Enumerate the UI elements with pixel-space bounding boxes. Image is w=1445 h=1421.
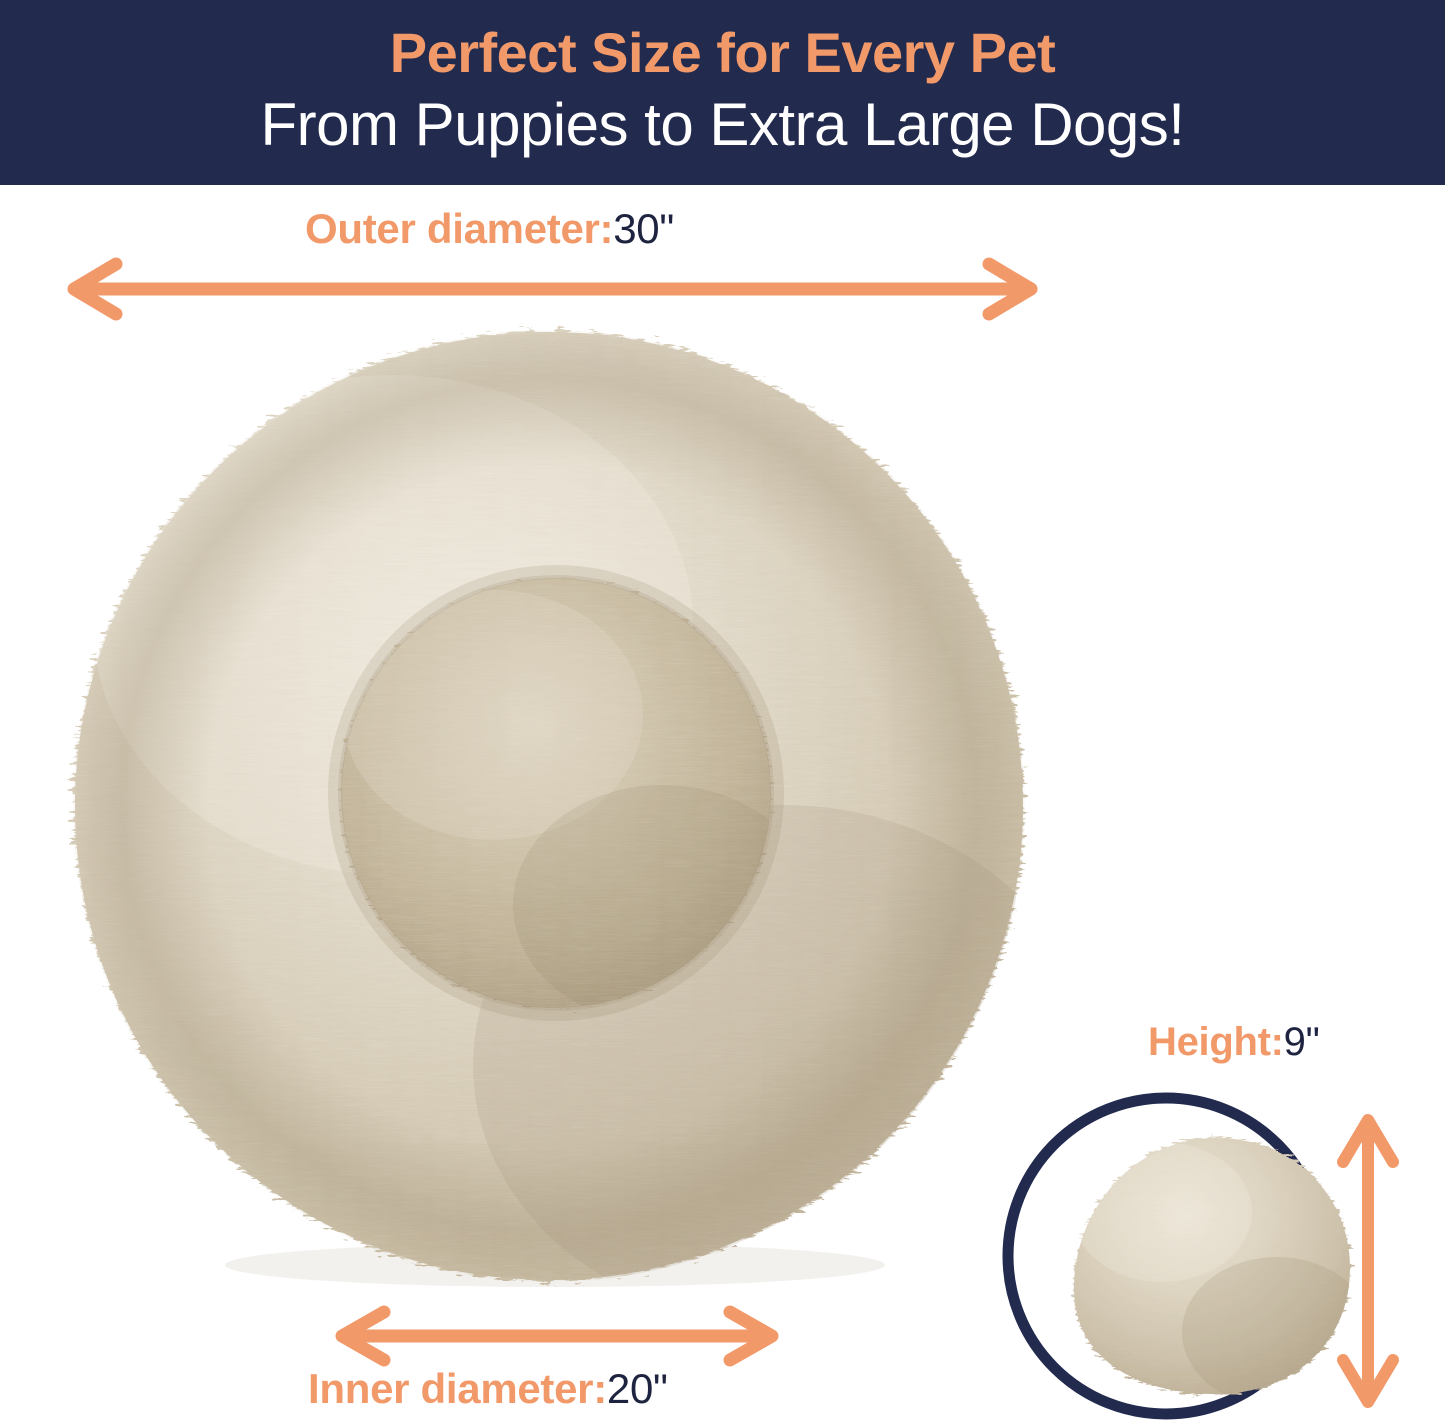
page-subtitle: From Puppies to Extra Large Dogs! <box>261 90 1185 159</box>
header-banner: Perfect Size for Every Pet From Puppies … <box>0 0 1445 185</box>
inner-diameter-value: 20" <box>607 1365 668 1412</box>
outer-diameter-label: Outer diameter:30" <box>305 208 674 250</box>
height-label: Height:9" <box>1148 1022 1320 1062</box>
height-name: Height: <box>1148 1020 1284 1064</box>
inner-diameter-name: Inner diameter: <box>308 1365 607 1412</box>
page-title: Perfect Size for Every Pet <box>390 22 1056 84</box>
inner-diameter-arrow <box>328 1306 786 1366</box>
product-image-side-view-circle <box>1002 1092 1330 1420</box>
product-image-top-view <box>63 325 1035 1287</box>
outer-diameter-name: Outer diameter: <box>305 205 613 252</box>
inner-diameter-label: Inner diameter:20" <box>308 1368 668 1410</box>
outer-diameter-value: 30" <box>613 205 674 252</box>
outer-diameter-arrow <box>60 258 1045 320</box>
infographic-canvas: Perfect Size for Every Pet From Puppies … <box>0 0 1445 1421</box>
height-value: 9" <box>1284 1020 1320 1064</box>
